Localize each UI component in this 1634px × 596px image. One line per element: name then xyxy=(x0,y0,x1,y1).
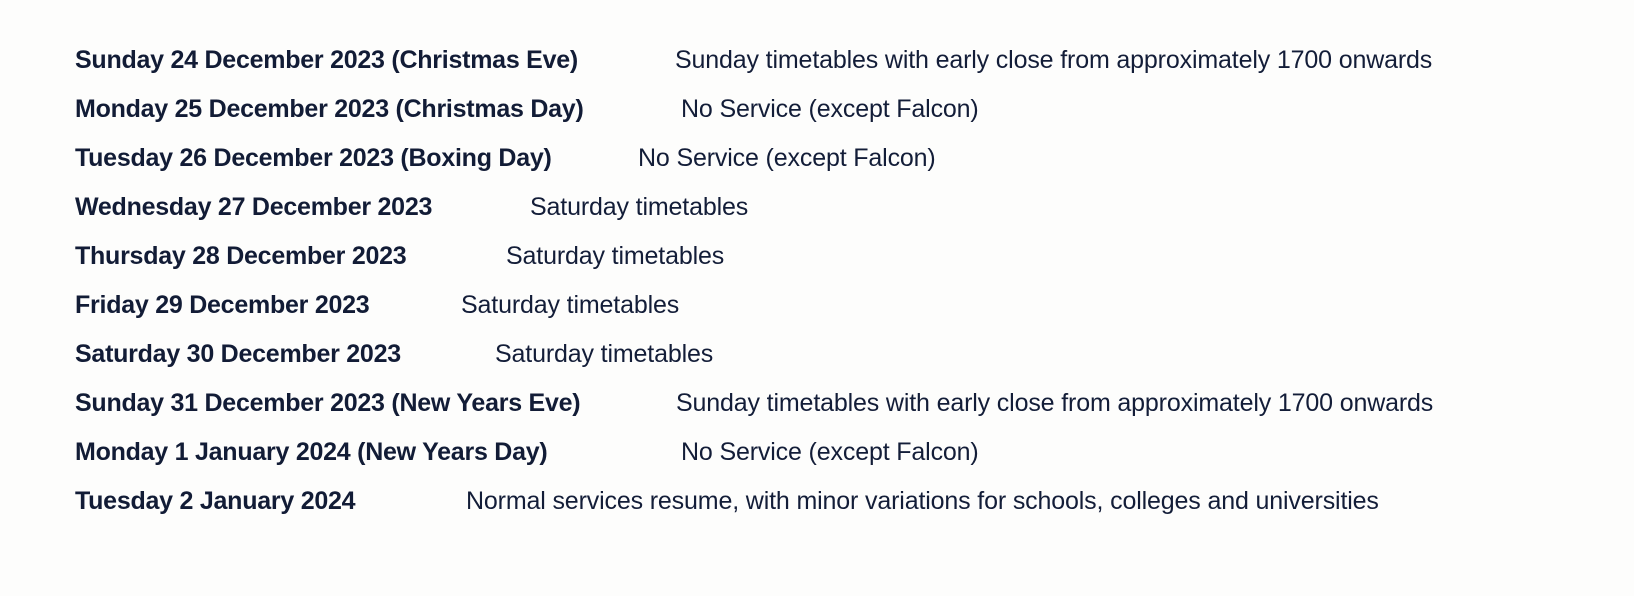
schedule-row: Monday 25 December 2023 (Christmas Day)N… xyxy=(75,85,1615,134)
schedule-row-service: No Service (except Falcon) xyxy=(638,144,936,173)
schedule-row-service: Sunday timetables with early close from … xyxy=(676,389,1433,418)
schedule-row-service: Saturday timetables xyxy=(495,340,713,369)
schedule-row-service: Sunday timetables with early close from … xyxy=(675,46,1432,75)
schedule-row-date: Wednesday 27 December 2023 xyxy=(75,193,432,222)
schedule-row: Saturday 30 December 2023Saturday timeta… xyxy=(75,330,1615,379)
schedule-row-date: Friday 29 December 2023 xyxy=(75,291,369,320)
schedule-row-date: Sunday 24 December 2023 (Christmas Eve) xyxy=(75,46,578,75)
schedule-row: Sunday 24 December 2023 (Christmas Eve)S… xyxy=(75,36,1615,85)
schedule-row-service: Normal services resume, with minor varia… xyxy=(466,487,1379,516)
holiday-timetable-list: Sunday 24 December 2023 (Christmas Eve)S… xyxy=(75,36,1615,526)
schedule-row: Tuesday 26 December 2023 (Boxing Day)No … xyxy=(75,134,1615,183)
schedule-row: Tuesday 2 January 2024Normal services re… xyxy=(75,477,1615,526)
schedule-row-date: Monday 1 January 2024 (New Years Day) xyxy=(75,438,547,467)
schedule-row-date: Sunday 31 December 2023 (New Years Eve) xyxy=(75,389,580,418)
schedule-row-service: Saturday timetables xyxy=(461,291,679,320)
schedule-row-service: Saturday timetables xyxy=(530,193,748,222)
schedule-row-service: Saturday timetables xyxy=(506,242,724,271)
schedule-row: Monday 1 January 2024 (New Years Day)No … xyxy=(75,428,1615,477)
schedule-row-date: Tuesday 26 December 2023 (Boxing Day) xyxy=(75,144,552,173)
schedule-row-date: Saturday 30 December 2023 xyxy=(75,340,401,369)
schedule-row-service: No Service (except Falcon) xyxy=(681,438,979,467)
schedule-row: Thursday 28 December 2023Saturday timeta… xyxy=(75,232,1615,281)
schedule-row: Wednesday 27 December 2023Saturday timet… xyxy=(75,183,1615,232)
schedule-row-service: No Service (except Falcon) xyxy=(681,95,979,124)
schedule-row: Sunday 31 December 2023 (New Years Eve)S… xyxy=(75,379,1615,428)
schedule-row: Friday 29 December 2023Saturday timetabl… xyxy=(75,281,1615,330)
schedule-row-date: Monday 25 December 2023 (Christmas Day) xyxy=(75,95,584,124)
schedule-row-date: Tuesday 2 January 2024 xyxy=(75,487,355,516)
schedule-row-date: Thursday 28 December 2023 xyxy=(75,242,406,271)
